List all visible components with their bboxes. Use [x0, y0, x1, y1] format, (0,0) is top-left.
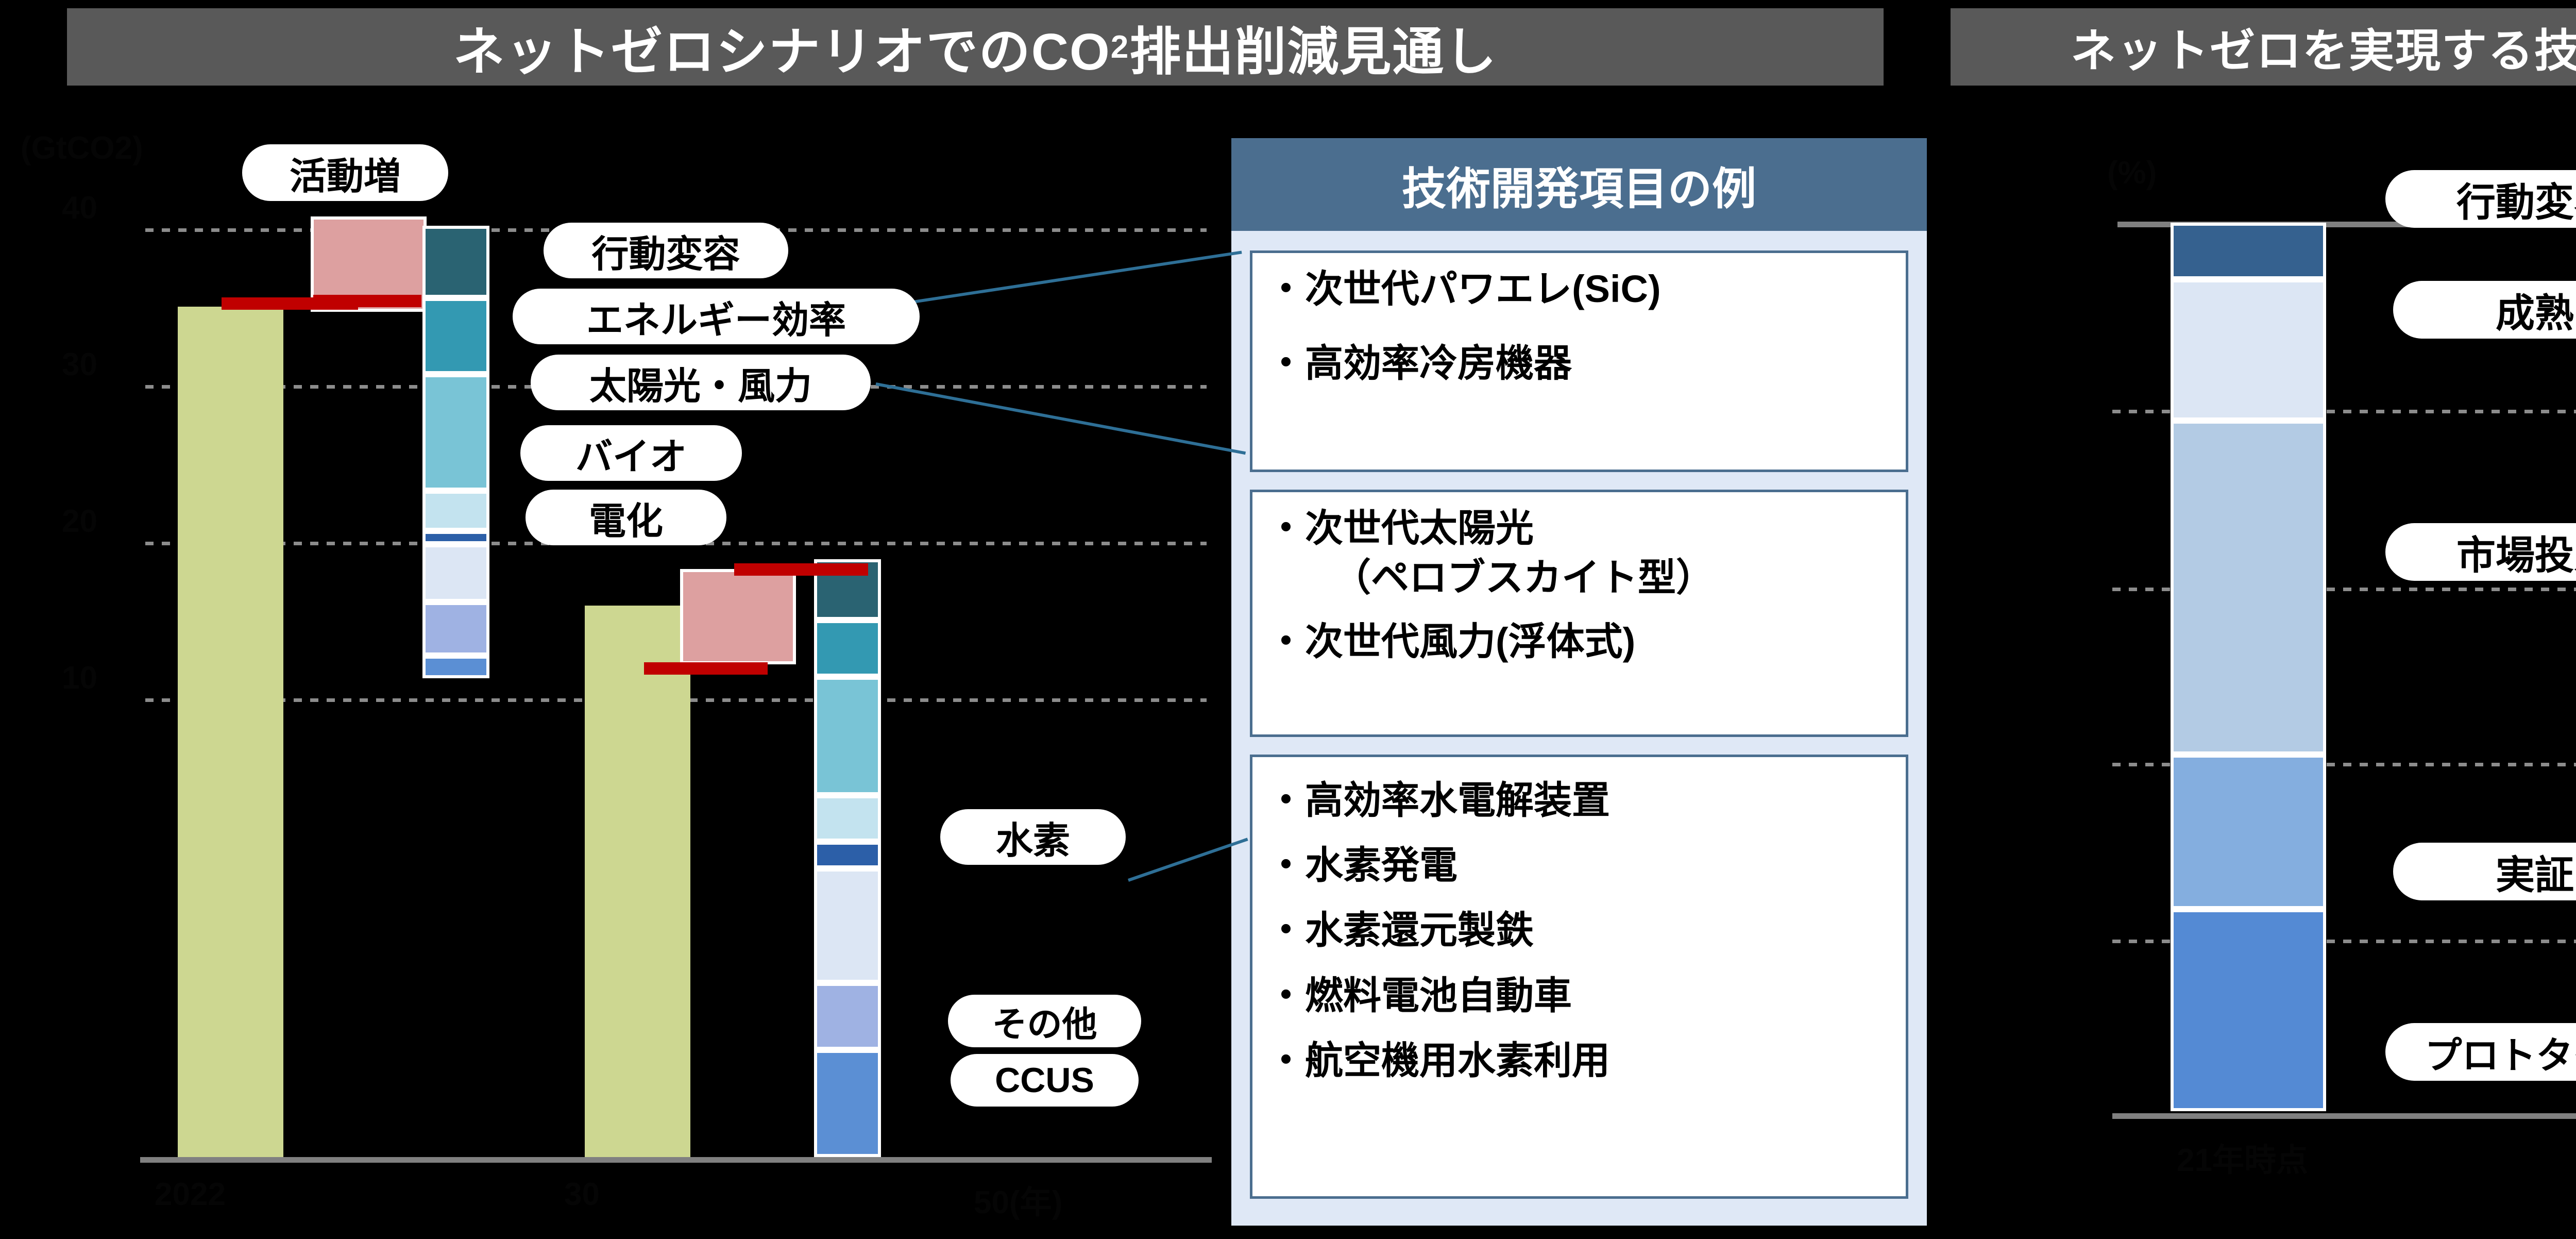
- stack-2050-efficiency: [814, 620, 881, 677]
- tech-item-3-3: ・水素還元製鉄: [1284, 906, 1896, 955]
- stack-2030-ccus: [422, 656, 489, 678]
- tech-item-2-3: ・次世代風力(浮体式): [1284, 617, 1896, 666]
- right-callout-demonstration[interactable]: 実証: [2393, 843, 2576, 900]
- tech-panel-title: 技術開発項目の例: [1231, 138, 1927, 231]
- tech-item-3-2: ・水素発電: [1284, 841, 1896, 890]
- bar-emission-2030: [585, 606, 690, 1157]
- right-x-tick-1: 21年時点: [2177, 1134, 2308, 1180]
- tech-box-1[interactable]: ・次世代パワエレ(SiC) ・高効率冷房機器: [1250, 250, 1908, 472]
- tech-item-3-5: ・航空機用水素利用: [1284, 1036, 1896, 1085]
- callout-solar-wind[interactable]: 太陽光・風力: [531, 355, 871, 410]
- callout-activity-increase[interactable]: 活動増: [242, 144, 448, 201]
- tech-item-1-2: ・高効率冷房機器: [1284, 339, 1896, 388]
- tech-item-3-1: ・高効率水電解装置: [1284, 776, 1896, 825]
- right-callout-prototype[interactable]: プロトタイプ: [2385, 1023, 2576, 1081]
- stack-2050-solar-wind: [814, 677, 881, 795]
- right-bar1-behavior: [2171, 223, 2326, 279]
- right-callout-behavior-change[interactable]: 行動変容: [2385, 170, 2576, 228]
- stack-2050-other: [814, 983, 881, 1050]
- tech-development-panel: 技術開発項目の例 ・次世代パワエレ(SiC) ・高効率冷房機器 ・次世代太陽光 …: [1231, 138, 1927, 1226]
- right-bar1-mature: [2171, 279, 2326, 421]
- right-bar1-market: [2171, 421, 2326, 755]
- callout-behavior-change[interactable]: 行動変容: [544, 223, 788, 278]
- left-y-tick-40: 40: [62, 190, 97, 226]
- stack-2030-hydrogen: [422, 544, 489, 602]
- leader-line-hydrogen: [1128, 838, 1248, 881]
- right-callout-market-launch[interactable]: 市場投入: [2385, 523, 2576, 581]
- right-panel-header: ネットゼロを実現する技術の技術成熟度: [1951, 8, 2576, 86]
- tech-item-1-1: ・次世代パワエレ(SiC): [1284, 264, 1896, 314]
- left-header-text-pre: ネットゼロシナリオでのCO: [453, 10, 1111, 85]
- left-y-tick-20: 20: [62, 503, 97, 540]
- stack-2050-electrification: [814, 842, 881, 868]
- left-header-text-post: 排出削減見通し: [1129, 10, 1497, 85]
- stack-2050-ccus: [814, 1050, 881, 1157]
- tech-item-2-2: （ペロブスカイト型）: [1328, 553, 1896, 602]
- callout-ccus[interactable]: CCUS: [951, 1054, 1139, 1107]
- left-y-axis-title: (GtCO2): [21, 130, 143, 166]
- tech-item-3-4: ・燃料電池自動車: [1284, 971, 1896, 1020]
- stack-2030-solar-wind: [422, 374, 489, 491]
- callout-hydrogen[interactable]: 水素: [940, 809, 1126, 865]
- right-bar1-prototype: [2171, 909, 2326, 1111]
- stack-2050-bio: [814, 795, 881, 842]
- left-baseline: [140, 1157, 1212, 1163]
- right-callout-mature[interactable]: 成熟: [2393, 281, 2576, 339]
- red-marker-2030-peak: [313, 295, 421, 307]
- left-y-tick-10: 10: [62, 660, 97, 696]
- left-y-tick-30: 30: [62, 346, 97, 383]
- callout-electrification[interactable]: 電化: [526, 490, 726, 545]
- tech-item-2-1: ・次世代太陽光: [1284, 504, 1896, 553]
- tech-box-2[interactable]: ・次世代太陽光 （ペロブスカイト型） ・次世代風力(浮体式): [1250, 490, 1908, 737]
- callout-other[interactable]: その他: [948, 995, 1141, 1047]
- stack-2030-behavior: [422, 226, 489, 298]
- leader-line-solar-wind: [875, 382, 1246, 455]
- stack-2030-other: [422, 602, 489, 656]
- stack-2030-bio: [422, 491, 489, 531]
- left-header-subscript: 2: [1111, 29, 1129, 65]
- right-bar1-demo: [2171, 755, 2326, 909]
- right-baseline: [2112, 1113, 2576, 1119]
- stack-2050-hydrogen: [814, 868, 881, 983]
- bar-emission-2022: [178, 307, 283, 1157]
- callout-bio[interactable]: バイオ: [520, 425, 742, 481]
- left-panel-header: ネットゼロシナリオでのCO2排出削減見通し: [67, 8, 1884, 86]
- tech-box-3[interactable]: ・高効率水電解装置 ・水素発電 ・水素還元製鉄 ・燃料電池自動車 ・航空機用水素…: [1250, 755, 1908, 1199]
- red-marker-2050-peak: [734, 563, 868, 576]
- left-x-tick-2022: 2022: [155, 1176, 226, 1213]
- callout-energy-efficiency[interactable]: エネルギー効率: [513, 289, 920, 344]
- stack-2030-efficiency: [422, 298, 489, 374]
- red-marker-2030-level: [644, 662, 768, 675]
- left-x-tick-30: 30: [564, 1176, 600, 1213]
- bar-activity-increase-2050: [680, 569, 796, 664]
- right-y-axis-title: (%): [2107, 155, 2157, 191]
- left-x-tick-50: 50(年): [974, 1176, 1062, 1223]
- stack-2030-electrification: [422, 531, 489, 544]
